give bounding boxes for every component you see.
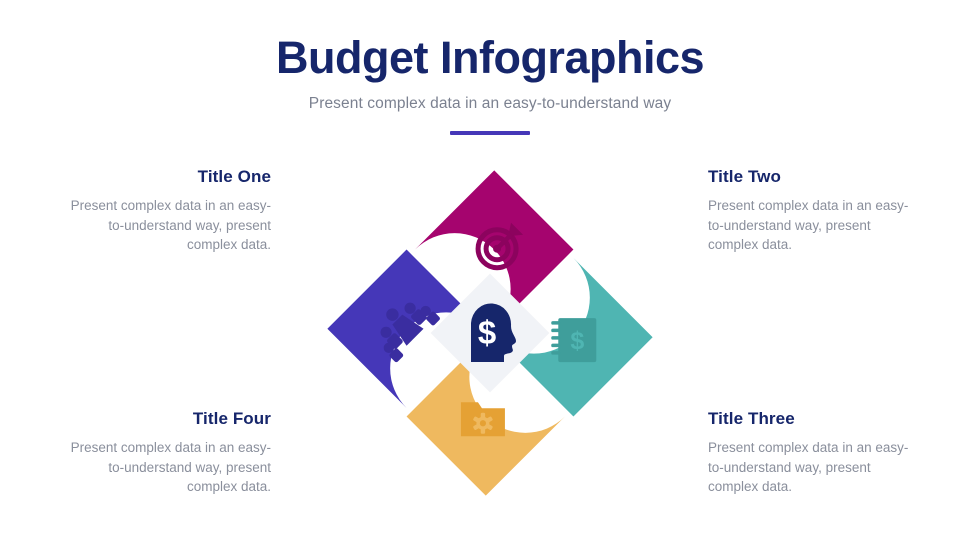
segment-four-body: Present complex data in an easy-to-under…	[56, 438, 271, 497]
segment-three-body: Present complex data in an easy-to-under…	[708, 438, 923, 497]
segment-one-title: Title One	[56, 167, 271, 187]
x-diagram-svg: $	[305, 163, 675, 503]
x-diagram: $	[305, 163, 675, 503]
segment-four-title: Title Four	[56, 409, 271, 429]
accent-divider	[450, 131, 530, 135]
text-block-four: Title Four Present complex data in an ea…	[56, 409, 271, 497]
page-subtitle: Present complex data in an easy-to-under…	[0, 95, 980, 113]
segment-three-title: Title Three	[708, 409, 923, 429]
text-block-two: Title Two Present complex data in an eas…	[708, 167, 923, 255]
svg-text:$: $	[478, 314, 496, 351]
segment-two-title: Title Two	[708, 167, 923, 187]
segment-two-body: Present complex data in an easy-to-under…	[708, 196, 923, 255]
page-header: Budget Infographics Present complex data…	[0, 34, 980, 135]
page-title: Budget Infographics	[0, 34, 980, 83]
folder-gear-icon	[461, 402, 505, 436]
segment-one-body: Present complex data in an easy-to-under…	[56, 196, 271, 255]
svg-text:$: $	[570, 327, 584, 355]
text-block-three: Title Three Present complex data in an e…	[708, 409, 923, 497]
text-block-one: Title One Present complex data in an eas…	[56, 167, 271, 255]
